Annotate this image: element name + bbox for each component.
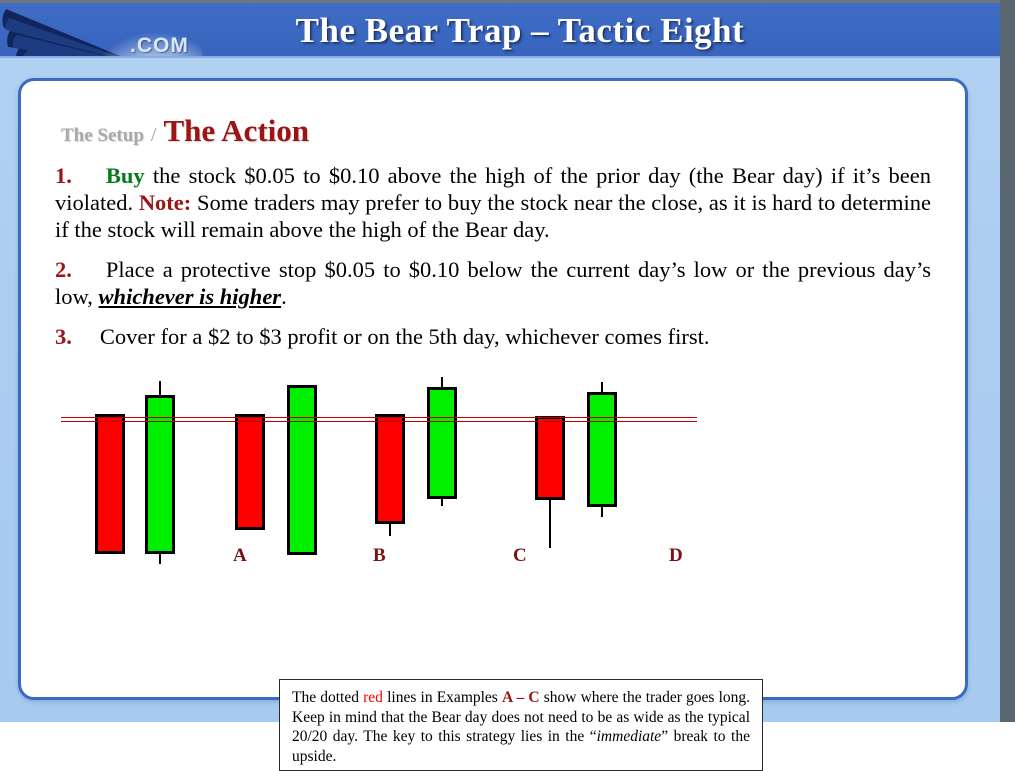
content-card: The Setup / The Action 1.Buy the stock $… [18,78,968,700]
header-bottom-edge [0,56,1000,58]
slide: The Bear Trap – Tactic Eight [0,0,1015,746]
headline-setup: The Setup [61,125,144,147]
logo-com-text: .COM [130,34,189,58]
candle-wick-upper [601,382,603,392]
right-edge-strip [1000,0,1015,722]
headline-separator: / [151,124,157,147]
rule-1-number: 1. [55,163,72,188]
example-label-c: C [513,545,527,567]
caption-box: The dotted red lines in Examples A – C s… [279,679,763,771]
candle-body-bull [287,385,317,555]
caption-example-range: A – C [502,689,540,706]
candle-body-bull [427,387,457,499]
headline-action: The Action [163,113,309,149]
candle-wick-upper [159,381,161,395]
candle-body-bear [235,414,265,530]
rule-item-1: 1.Buy the stock $0.05 to $0.10 above the… [55,162,931,243]
content-card-inner: The Setup / The Action 1.Buy the stock $… [21,81,965,697]
candle-body-bear [535,416,565,500]
rule-3-number: 3. [55,324,72,349]
entry-trigger-line [497,421,697,422]
example-label-b: B [373,545,386,567]
rule-item-2: 2.Place a protective stop $0.05 to $0.10… [55,256,931,310]
rule-1-note-emphasis: Note: [139,190,191,215]
caption-text-1: The dotted [292,689,363,706]
caption-red-word: red [363,689,383,706]
example-label-a: A [233,545,247,567]
caption-italic-word: immediate [597,728,662,745]
candlestick-diagram: ABCD [47,381,947,581]
rule-2-number: 2. [55,257,72,282]
section-headline: The Setup / The Action [61,113,939,149]
entry-trigger-line [497,417,697,418]
candle-body-bear [95,414,125,554]
rule-2-text-b: . [281,284,287,309]
candle-wick-lower [441,499,443,506]
rule-3-text-a: Cover for a $2 to $3 profit or on the 5t… [100,324,710,349]
header-band: The Bear Trap – Tactic Eight [0,3,1000,58]
candle-body-bear [375,414,405,524]
candle-wick-lower [389,524,391,536]
candle-wick-lower [549,500,551,548]
candle-body-bull [145,395,175,554]
caption-text-2: lines in Examples [383,689,502,706]
candle-wick-lower [159,554,161,564]
rule-item-3: 3.Cover for a $2 to $3 profit or on the … [55,323,931,350]
example-label-d: D [669,545,683,567]
rule-2-whichever-emphasis: whichever is higher [99,284,282,309]
candle-wick-lower [601,507,603,517]
rule-1-buy-emphasis: Buy [106,163,145,188]
candle-body-bull [587,392,617,507]
candle-wick-upper [441,377,443,387]
caption-quote-open: “ [590,728,597,745]
